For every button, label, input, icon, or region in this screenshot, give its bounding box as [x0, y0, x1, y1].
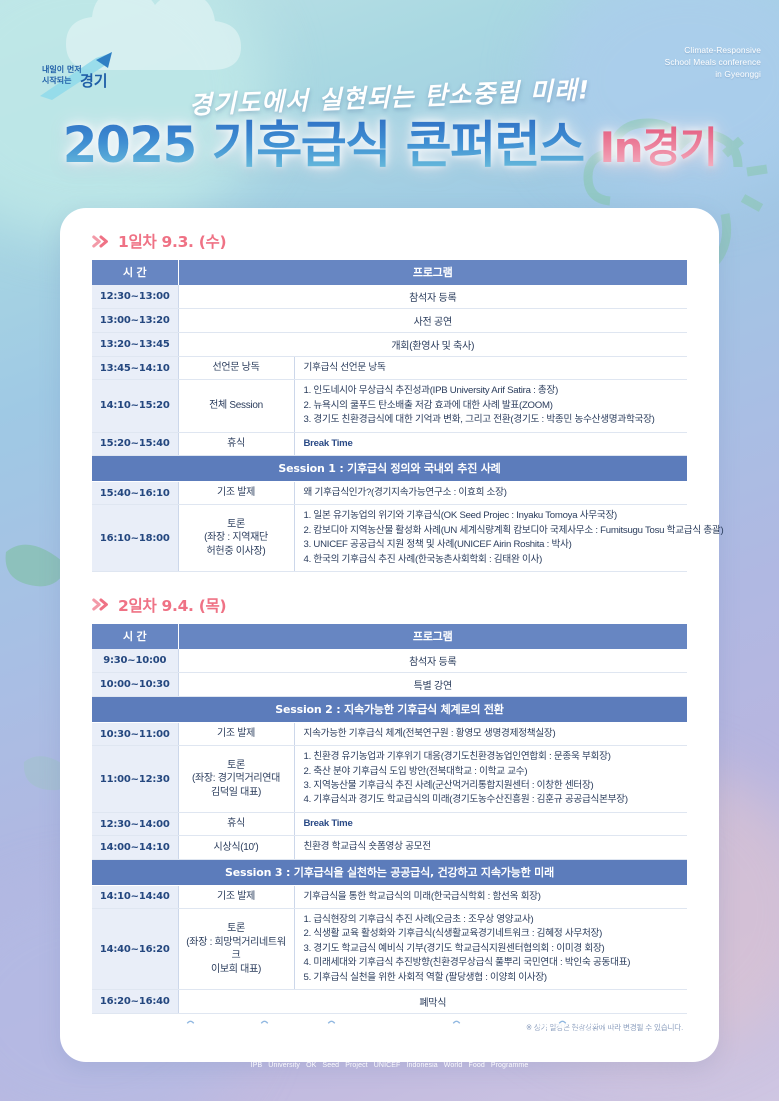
table-row: 11:00~12:30토론(좌장: 경기먹거리연대김덕일 대표)1. 친환경 유… — [92, 746, 687, 813]
session-title: Session 3 : 기후급식을 실천하는 공공급식, 건강하고 지속가능한 … — [92, 859, 687, 885]
cell-time: 11:00~12:30 — [92, 746, 178, 813]
program-item: 4. 한국의 기후급식 추진 사례(한국농촌사회학회 : 김태완 이사) — [304, 553, 682, 567]
cell-program: 1. 친환경 유기농업과 기후위기 대응(경기도친환경농업인연합회 : 문종욱 … — [294, 746, 687, 813]
program-item: 1. 일본 유기농업의 위기와 기후급식(OK Seed Projec : In… — [304, 509, 682, 523]
cell-time: 14:10~14:40 — [92, 885, 178, 908]
program-item: 2. 식생활 교육 활성화와 기후급식(식생활교육경기네트워크 : 김혜정 사무… — [304, 927, 682, 941]
cell-time: 16:10~18:00 — [92, 505, 178, 572]
sponsor-logo-4: 경기먹거리연대 — [450, 1016, 523, 1034]
cell-program: Break Time — [294, 432, 687, 455]
cell-program: 폐막식 — [178, 989, 687, 1013]
cell-time: 10:30~11:00 — [92, 722, 178, 745]
sponsor-emblem-icon — [325, 1016, 338, 1034]
sponsor-subname: Gyeonggi Assembly — [574, 1029, 615, 1034]
cell-time: 13:00~13:20 — [92, 309, 178, 333]
program-item: 3. 경기도 친환경급식에 대한 기억과 변화, 그리고 전환(경기도 : 박종… — [304, 413, 682, 427]
sponsor-emblem-icon — [258, 1016, 271, 1034]
session-title: Session 1 : 기후급식 정의와 국내외 추진 사례 — [92, 455, 687, 481]
poster-title-main: 2025 기후급식 콘퍼런스 — [63, 116, 584, 174]
sponsor-logo-5: 후원경기도의회Gyeonggi Assembly — [537, 1016, 615, 1034]
day1-label: 1일차 9.3. (수) — [118, 230, 226, 252]
cell-program: 참석자 등록 — [178, 649, 687, 673]
cell-kind: 휴식 — [178, 432, 294, 455]
cell-kind: 전체 Session — [178, 380, 294, 432]
program-item: 4. 미래세대와 기후급식 추진방향(친환경무상급식 풀뿌리 국민연대 : 박인… — [304, 956, 682, 970]
chevron-double-right-icon — [92, 598, 110, 611]
sponsor-name: 경기먹거리연대 — [468, 1019, 523, 1032]
sponsor-name: GAFI경기도농수산진흥원 — [276, 1018, 312, 1033]
column-header-program: 프로그램 — [178, 624, 687, 649]
day2-table-body: 9:30~10:00참석자 등록10:00~10:30특별 강연Session … — [92, 649, 687, 1014]
program-item: 3. 지역농산물 기후급식 추진 사례(군산먹거리통합지원센터 : 이창한 센터… — [304, 779, 682, 793]
day1-table-body: 12:30~13:00참석자 등록13:00~13:20사전 공연13:20~1… — [92, 285, 687, 571]
cell-kind: 시상식(10') — [178, 836, 294, 859]
session-banner-row: Session 1 : 기후급식 정의와 국내외 추진 사례 — [92, 455, 687, 481]
cell-kind: 기조 발제 — [178, 722, 294, 745]
program-item: 친환경 학교급식 숏폼영상 공모전 — [304, 840, 682, 854]
table-row: 13:00~13:20사전 공연 — [92, 309, 687, 333]
english-line-1: Climate-Responsive — [665, 44, 761, 56]
cell-time: 10:00~10:30 — [92, 672, 178, 696]
cell-program: 사전 공연 — [178, 309, 687, 333]
sponsor-logo-1: 주최경기도 — [165, 1016, 226, 1034]
poster-header: 내일이 먼저 시작되는 경기 Climate-Responsive School… — [0, 0, 779, 206]
partner-line-1: 협력기관(단체) 경기지속가능정연구소 경기도 (사)군 학교급식지원센터협의회… — [0, 1036, 779, 1048]
cell-program: 1. 인도네시아 무상급식 추진성과(IPB University Arif S… — [294, 380, 687, 432]
program-item: 3. 경기도 학교급식 예비식 기부(경기도 학교급식지원센터협의회 : 이미경… — [304, 942, 682, 956]
logo-brand: 경기 — [80, 72, 108, 90]
cell-kind: 기조 발제 — [178, 885, 294, 908]
day2-schedule-table: 시 간 프로그램 9:30~10:00참석자 등록10:00~10:30특별 강… — [92, 624, 687, 1014]
program-item: 1. 급식현장의 기후급식 추진 사례(오금초 : 조우상 영양교사) — [304, 913, 682, 927]
sponsor-role-label: 주최 — [165, 1020, 179, 1031]
program-item: 2. 캄보디아 지역농산물 활성화 사례(UN 세계식량계획 캄보디아 국제사무… — [304, 524, 682, 538]
day1-heading: 1일차 9.3. (수) — [92, 230, 687, 252]
cell-program: 1. 일본 유기농업의 위기와 기후급식(OK Seed Projec : In… — [294, 505, 687, 572]
sponsor-subname: 경기도농수산진흥원 — [276, 1028, 312, 1033]
table-row: 16:20~16:40폐막식 — [92, 989, 687, 1013]
day2-heading: 2일차 9.4. (목) — [92, 594, 687, 616]
cell-time: 13:45~14:10 — [92, 357, 178, 380]
partner-organizations: 협력기관(단체) 경기지속가능정연구소 경기도 (사)군 학교급식지원센터협의회… — [0, 1036, 779, 1073]
day1-schedule-table: 시 간 프로그램 12:30~13:00참석자 등록13:00~13:20사전 … — [92, 260, 687, 572]
cell-time: 13:20~13:45 — [92, 333, 178, 357]
session-title: Session 2 : 지속가능한 기후급식 체계로의 전환 — [92, 696, 687, 722]
chevron-double-right-icon — [92, 235, 110, 248]
partner-line-2: 전국먹거리연대 친환경무상급식불우리국민연대 한국급식학회 한국친환경농업협회 … — [0, 1048, 779, 1060]
table-header-row: 시 간 프로그램 — [92, 624, 687, 649]
cell-kind: 토론(좌장 : 지역재단허헌중 이사장) — [178, 505, 294, 572]
table-row: 15:40~16:10기조 발제왜 기후급식인가?(경기지속가능연구소 : 이효… — [92, 481, 687, 504]
cell-program: 왜 기후급식인가?(경기지속가능연구소 : 이효희 소장) — [294, 481, 687, 504]
sponsor-name: 경기도 — [202, 1019, 226, 1032]
table-row: 13:45~14:10선언문 낭독기후급식 선언문 낭독 — [92, 357, 687, 380]
program-item: 기후급식을 통한 학교급식의 미래(한국급식학회 : 함선옥 회장) — [304, 890, 682, 904]
schedule-card: 1일차 9.3. (수) 시 간 프로그램 12:30~13:00참석자 등록1… — [60, 208, 719, 1062]
column-header-time: 시 간 — [92, 260, 178, 285]
sponsor-emblem-icon — [184, 1016, 197, 1034]
cell-time: 14:00~14:10 — [92, 836, 178, 859]
program-item: 5. 기후급식 실천을 위한 사회적 역할 (팔당생협 : 이양희 이사장) — [304, 971, 682, 985]
poster-title: 2025 기후급식 콘퍼런스 In경기 — [0, 120, 779, 170]
cell-kind: 토론(좌장: 경기먹거리연대김덕일 대표) — [178, 746, 294, 813]
cell-time: 12:30~13:00 — [92, 285, 178, 309]
program-item: 2. 축산 분야 기후급식 도입 방안(전북대학교 : 이학교 교수) — [304, 765, 682, 779]
table-row: 10:30~11:00기조 발제지속가능한 기후급식 체계(전북연구원 : 황영… — [92, 722, 687, 745]
sponsor-logo-2: 주관GAFI경기도농수산진흥원 — [238, 1016, 311, 1034]
program-item: 지속가능한 기후급식 체계(전북연구원 : 황영모 생명경제정책실장) — [304, 727, 682, 741]
cell-kind: 휴식 — [178, 812, 294, 835]
program-item: 기후급식 선언문 낭독 — [304, 361, 682, 375]
cell-kind: 기조 발제 — [178, 481, 294, 504]
cell-time: 14:10~15:20 — [92, 380, 178, 432]
session-banner-row: Session 2 : 지속가능한 기후급식 체계로의 전환 — [92, 696, 687, 722]
sponsor-name: 경기도친환경농업인연합회 — [343, 1019, 438, 1032]
cell-program: 참석자 등록 — [178, 285, 687, 309]
program-item: Break Time — [304, 437, 682, 451]
program-item: 1. 인도네시아 무상급식 추진성과(IPB University Arif S… — [304, 384, 682, 398]
cell-program: 지속가능한 기후급식 체계(전북연구원 : 황영모 생명경제정책실장) — [294, 722, 687, 745]
logo-line1: 내일이 먼저 — [42, 64, 82, 74]
cell-time: 14:40~16:20 — [92, 909, 178, 990]
table-row: 14:10~14:40기조 발제기후급식을 통한 학교급식의 미래(한국급식학회… — [92, 885, 687, 908]
program-item: 왜 기후급식인가?(경기지속가능연구소 : 이효희 소장) — [304, 486, 682, 500]
cell-program: Break Time — [294, 812, 687, 835]
session-banner-row: Session 3 : 기후급식을 실천하는 공공급식, 건강하고 지속가능한 … — [92, 859, 687, 885]
day2-label: 2일차 9.4. (목) — [118, 594, 226, 616]
table-row: 12:30~14:00휴식Break Time — [92, 812, 687, 835]
cell-program: 친환경 학교급식 숏폼영상 공모전 — [294, 836, 687, 859]
column-header-program: 프로그램 — [178, 260, 687, 285]
cell-kind: 토론(좌장 : 희망먹거리네트워크이보희 대표) — [178, 909, 294, 990]
partner-line-3: IPB University OK Seed Project UNICEF In… — [0, 1060, 779, 1073]
table-row: 14:00~14:10시상식(10')친환경 학교급식 숏폼영상 공모전 — [92, 836, 687, 859]
program-item: 1. 친환경 유기농업과 기후위기 대응(경기도친환경농업인연합회 : 문종욱 … — [304, 750, 682, 764]
sponsor-emblem-icon — [556, 1016, 569, 1034]
program-item: 4. 기후급식과 경기도 학교급식의 미래(경기도농수산진흥원 : 김훈규 공공… — [304, 793, 682, 807]
cell-program: 기후급식 선언문 낭독 — [294, 357, 687, 380]
table-row: 12:30~13:00참석자 등록 — [92, 285, 687, 309]
table-row: 9:30~10:00참석자 등록 — [92, 649, 687, 673]
logo-line2: 시작되는 — [42, 75, 72, 85]
sponsor-emblem-icon — [450, 1016, 463, 1034]
program-item: 2. 뉴욕시의 쿨푸드 탄소배출 저감 효과에 대한 사례 발표(ZOOM) — [304, 399, 682, 413]
cell-kind: 선언문 낭독 — [178, 357, 294, 380]
sponsor-logo-3: 경기도친환경농업인연합회 — [325, 1016, 438, 1034]
table-row: 14:10~15:20전체 Session1. 인도네시아 무상급식 추진성과(… — [92, 380, 687, 432]
sponsor-logo-row: 주최경기도주관GAFI경기도농수산진흥원경기도친환경농업인연합회경기먹거리연대후… — [0, 1016, 779, 1034]
cell-time: 15:20~15:40 — [92, 432, 178, 455]
table-row: 15:20~15:40휴식Break Time — [92, 432, 687, 455]
sponsor-role-label: 후원 — [537, 1020, 551, 1031]
column-header-time: 시 간 — [92, 624, 178, 649]
cell-time: 16:20~16:40 — [92, 989, 178, 1013]
table-row: 14:40~16:20토론(좌장 : 희망먹거리네트워크이보희 대표)1. 급식… — [92, 909, 687, 990]
program-item: Break Time — [304, 817, 682, 831]
table-row: 10:00~10:30특별 강연 — [92, 672, 687, 696]
cell-time: 12:30~14:00 — [92, 812, 178, 835]
cell-program: 1. 급식현장의 기후급식 추진 사례(오금초 : 조우상 영양교사)2. 식생… — [294, 909, 687, 990]
cell-program: 개회(환영사 및 축사) — [178, 333, 687, 357]
cell-program: 기후급식을 통한 학교급식의 미래(한국급식학회 : 함선옥 회장) — [294, 885, 687, 908]
sponsor-name: 경기도의회Gyeonggi Assembly — [574, 1016, 615, 1034]
program-item: 3. UNICEF 공공급식 지원 정책 및 사례(UNICEF Airin R… — [304, 538, 682, 552]
poster-title-accent: In경기 — [600, 123, 717, 172]
table-row: 16:10~18:00토론(좌장 : 지역재단허헌중 이사장)1. 일본 유기농… — [92, 505, 687, 572]
table-row: 13:20~13:45개회(환영사 및 축사) — [92, 333, 687, 357]
table-header-row: 시 간 프로그램 — [92, 260, 687, 285]
sponsor-role-label: 주관 — [238, 1020, 252, 1031]
cell-program: 특별 강연 — [178, 672, 687, 696]
cell-time: 15:40~16:10 — [92, 481, 178, 504]
cell-time: 9:30~10:00 — [92, 649, 178, 673]
